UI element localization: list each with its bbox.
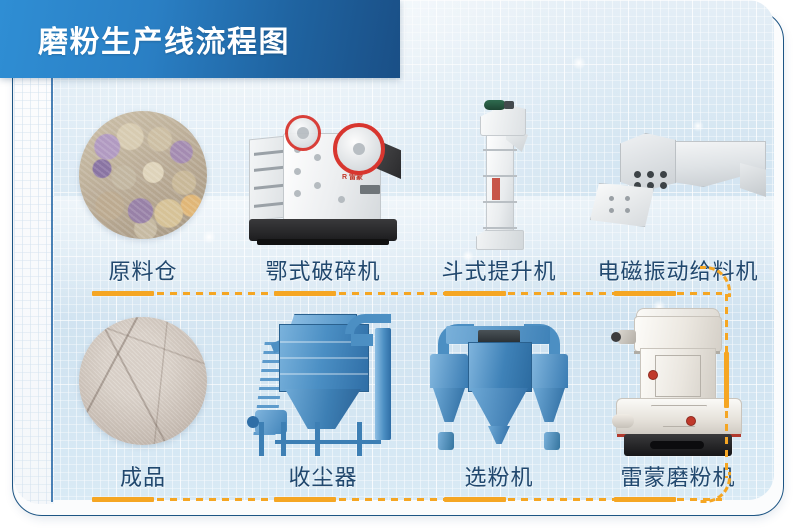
flow-item-raw-material[interactable]: 原料仓	[54, 86, 232, 286]
flow-row-1: 原料仓 R 雷蒙	[54, 86, 772, 286]
left-gutter	[14, 12, 54, 504]
flow-item-label: 原料仓	[108, 254, 177, 286]
title-banner: 磨粉生产线流程图	[0, 0, 400, 78]
flow-item-powder-separator[interactable]: 选粉机	[414, 292, 584, 492]
bucket-elevator-illustration	[414, 100, 584, 250]
finished-powder-photo	[54, 306, 232, 456]
jaw-crusher-illustration: R 雷蒙	[232, 100, 414, 250]
raw-material-photo	[54, 100, 232, 250]
flow-item-jaw-crusher[interactable]: R 雷蒙 鄂式破碎机	[232, 86, 414, 286]
gutter-divider	[51, 78, 53, 502]
dust-collector-illustration	[232, 306, 414, 456]
raymond-mill-illustration	[584, 306, 772, 456]
flow-item-label: 选粉机	[464, 460, 533, 492]
flow-diagram-page: 原料仓 R 雷蒙	[0, 0, 800, 530]
flow-item-vibrating-feeder[interactable]: 电磁振动给料机	[584, 86, 772, 286]
flow-connector-vertical-segment	[724, 352, 729, 408]
flow-item-label: 鄂式破碎机	[265, 254, 380, 286]
flow-item-bucket-elevator[interactable]: 斗式提升机	[414, 86, 584, 286]
flow-item-label: 斗式提升机	[441, 254, 556, 286]
flow-item-label: 收尘器	[288, 460, 357, 492]
page-title: 磨粉生产线流程图	[38, 17, 290, 61]
powder-separator-illustration	[414, 306, 584, 456]
flow-item-raymond-mill[interactable]: 雷蒙磨粉机	[584, 292, 772, 492]
electromagnetic-vibrating-feeder-illustration	[584, 100, 772, 250]
flow-item-finished-product[interactable]: 成品	[54, 292, 232, 492]
flow-item-dust-collector[interactable]: 收尘器	[232, 292, 414, 492]
flow-item-label: 成品	[120, 460, 166, 492]
flow-row-2: 成品 收尘器	[54, 292, 772, 492]
flow-item-label: 电磁振动给料机	[597, 254, 758, 286]
